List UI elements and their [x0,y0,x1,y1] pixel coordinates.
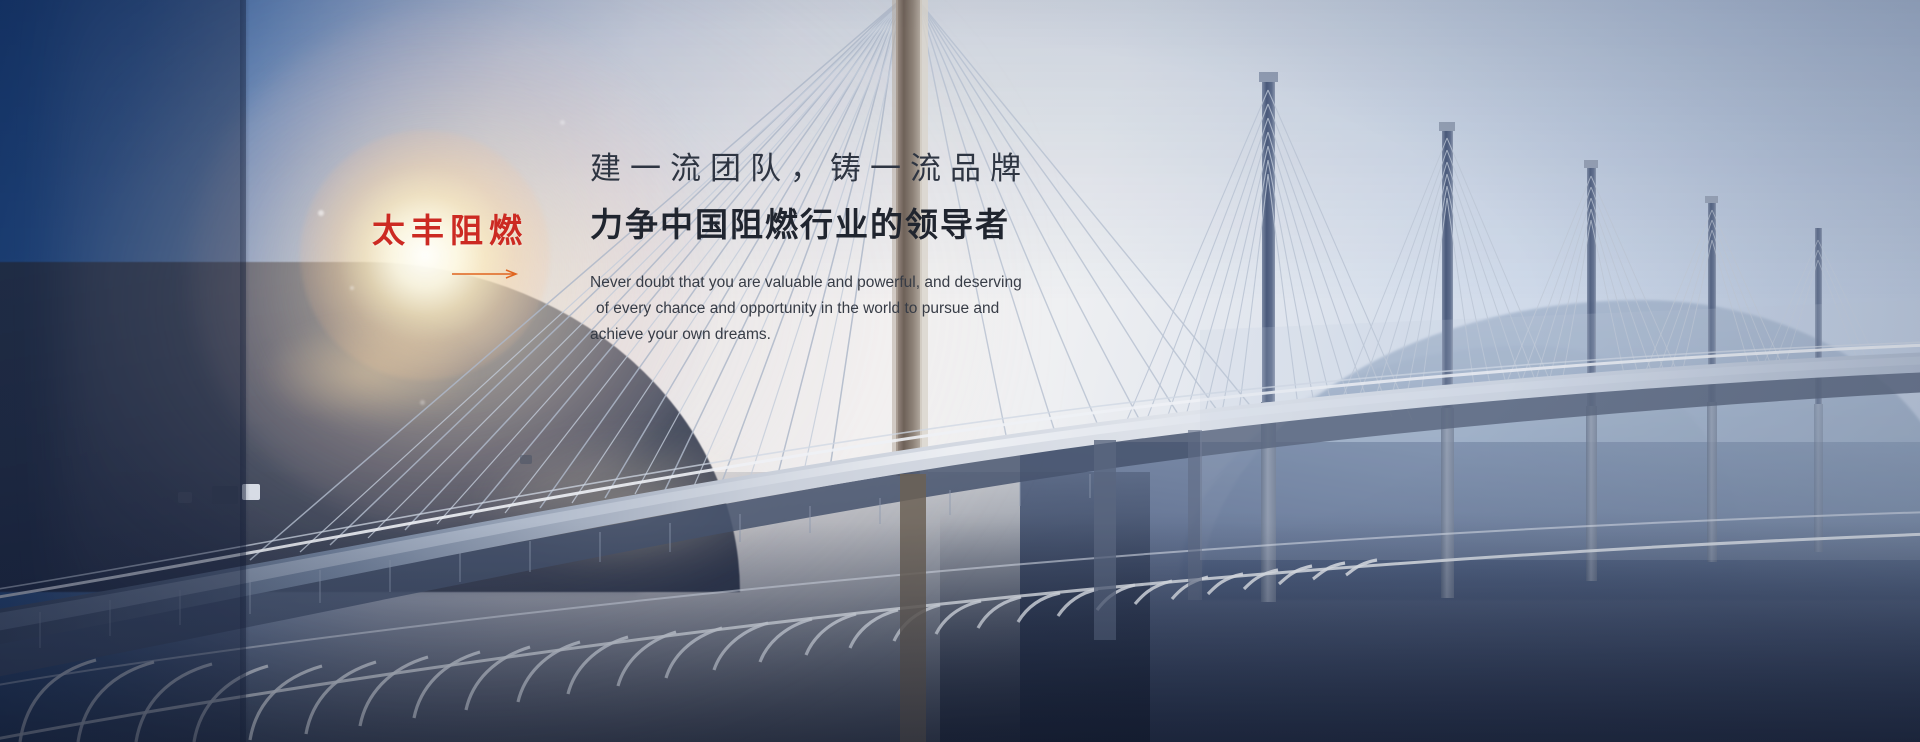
banner-content: 太丰阻燃 建一流团队，铸一流品牌 力争中国阻燃行业的领导者 Never doub… [0,0,1920,742]
arrow-right-icon [452,269,520,279]
body-line-3: achieve your own dreams. [590,322,1060,348]
body-copy: Never doubt that you are valuable and po… [590,270,1060,348]
body-line-2: of every chance and opportunity in the w… [590,296,1060,322]
hero-banner: 太丰阻燃 建一流团队，铸一流品牌 力争中国阻燃行业的领导者 Never doub… [0,0,1920,742]
subheadline: 力争中国阻燃行业的领导者 [590,205,1210,245]
brand-logo[interactable]: 太丰阻燃 [372,214,552,279]
headline: 建一流团队，铸一流品牌 [590,150,1210,189]
banner-copy: 建一流团队，铸一流品牌 力争中国阻燃行业的领导者 Never doubt tha… [590,150,1210,348]
brand-logo-text: 太丰阻燃 [372,214,552,247]
body-line-1: Never doubt that you are valuable and po… [590,270,1060,296]
